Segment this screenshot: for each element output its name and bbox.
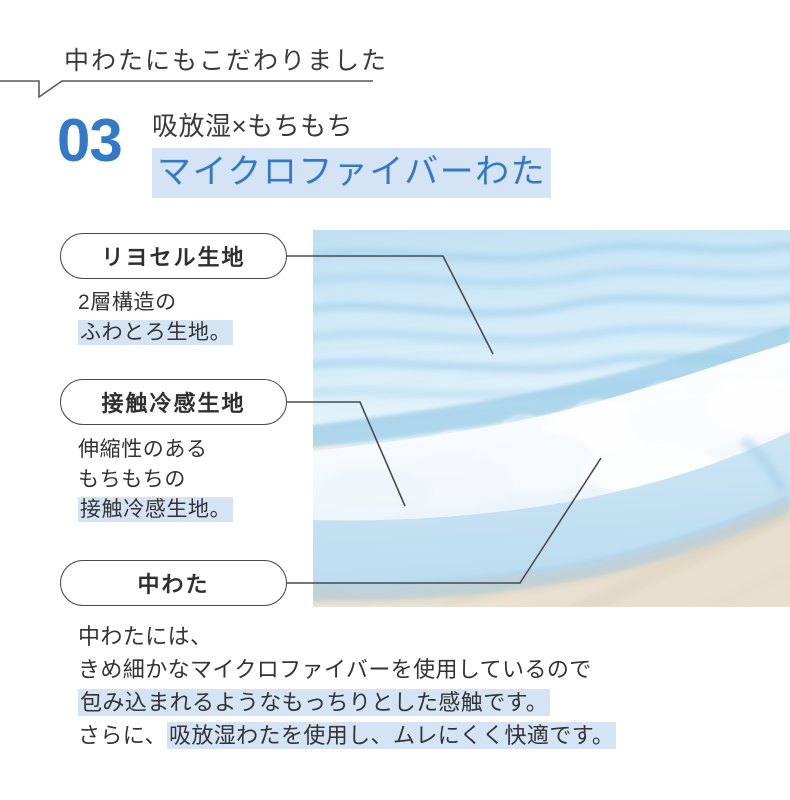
product-photo bbox=[313, 230, 790, 607]
callout-text-cooltouch: 伸縮性のある もちもちの 接触冷感生地。 bbox=[78, 435, 233, 525]
paragraph-line-highlighted: 吸放湿わたを使用し、ムレにくく快適です。 bbox=[167, 722, 616, 749]
callout-line: ふわとろ生地。 bbox=[78, 318, 233, 348]
bottom-description: 中わたには、 きめ細かなマイクロファイバーを使用しているので 包み込まれるような… bbox=[78, 620, 616, 752]
paragraph-line: きめ細かなマイクロファイバーを使用しているので bbox=[78, 653, 616, 686]
callout-line: 2層構造の bbox=[78, 288, 233, 318]
callout-line-text-highlighted: 接触冷感生地。 bbox=[78, 497, 233, 522]
callout-pill-nakawata-label: 中わた bbox=[137, 567, 209, 599]
callout-pill-lyocell[interactable]: リヨセル生地 bbox=[60, 233, 287, 279]
section-subtitle: 吸放湿×もちもち bbox=[152, 110, 353, 142]
callout-pill-nakawata[interactable]: 中わた bbox=[60, 560, 287, 606]
callout-line-text: 伸縮性のある bbox=[78, 438, 208, 461]
callout-line: もちもちの bbox=[78, 465, 233, 495]
paragraph-line-highlighted: 包み込まれるようなもっちりとした感触です。 bbox=[78, 689, 550, 716]
paragraph-line-plain: きめ細かなマイクロファイバーを使用しているので bbox=[78, 657, 592, 682]
infographic-panel: 中わたにもこだわりました 03 吸放湿×もちもち マイクロファイバーわた bbox=[0, 0, 790, 800]
product-photo-illustration bbox=[313, 230, 790, 607]
paragraph-line-plain: さらに、 bbox=[78, 723, 167, 748]
section-number: 03 bbox=[57, 111, 122, 171]
paragraph-line-plain: 中わたには、 bbox=[78, 624, 212, 649]
callout-text-lyocell: 2層構造の ふわとろ生地。 bbox=[78, 288, 233, 348]
section-title: マイクロファイバーわた bbox=[152, 148, 551, 198]
paragraph-line: 包み込まれるようなもっちりとした感触です。 bbox=[78, 686, 616, 719]
callout-pill-cooltouch-label: 接触冷感生地 bbox=[101, 386, 245, 418]
callout-line-text: もちもちの bbox=[78, 468, 186, 491]
paragraph-line: 中わたには、 bbox=[78, 620, 616, 653]
paragraph-line: さらに、吸放湿わたを使用し、ムレにくく快適です。 bbox=[78, 719, 616, 752]
callout-line-text: 2層構造の bbox=[78, 291, 177, 314]
callout-pill-lyocell-label: リヨセル生地 bbox=[101, 240, 245, 272]
header-eyebrow-block: 中わたにもこだわりました bbox=[0, 44, 790, 114]
eyebrow-underline-with-tail bbox=[0, 72, 790, 112]
callout-line: 伸縮性のある bbox=[78, 435, 233, 465]
callout-line-text-highlighted: ふわとろ生地。 bbox=[78, 320, 233, 345]
callout-line: 接触冷感生地。 bbox=[78, 495, 233, 525]
callout-pill-cooltouch[interactable]: 接触冷感生地 bbox=[60, 379, 287, 425]
